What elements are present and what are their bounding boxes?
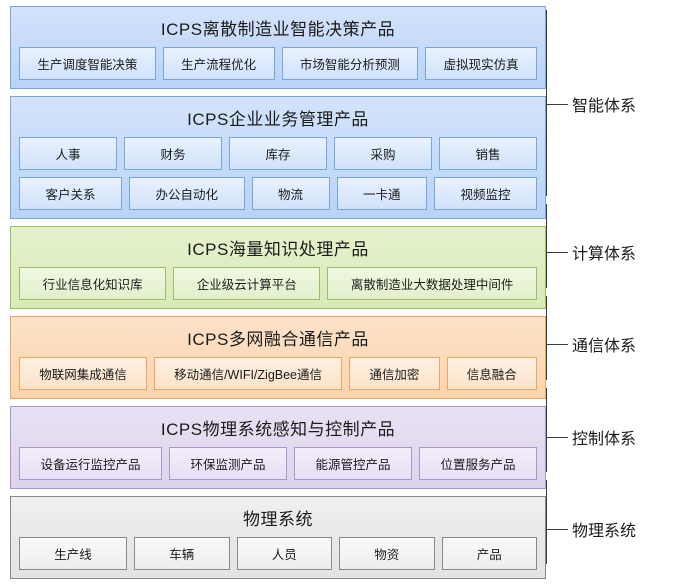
annotation-label: 控制体系 <box>568 425 636 449</box>
chip-row: 设备运行监控产品 环保监测产品 能源管控产品 位置服务产品 <box>19 447 537 480</box>
chip[interactable]: 物流 <box>252 177 330 210</box>
annotation-control-system: 控制体系 <box>546 425 636 449</box>
chip[interactable]: 生产流程优化 <box>163 47 275 80</box>
layer-icps-enterprise-business-management: ICPS企业业务管理产品 人事 财务 库存 采购 销售 客户关系 办公自动化 物… <box>10 96 546 219</box>
chip[interactable]: 移动通信/WIFI/ZigBee通信 <box>154 357 342 390</box>
chip[interactable]: 视频监控 <box>434 177 537 210</box>
chip[interactable]: 一卡通 <box>337 177 428 210</box>
annotation-physical-system: 物理系统 <box>546 517 636 541</box>
layer-title: ICPS海量知识处理产品 <box>19 233 537 267</box>
annotation-stem <box>546 252 568 253</box>
chip[interactable]: 人员 <box>237 537 333 570</box>
chip[interactable]: 位置服务产品 <box>419 447 537 480</box>
annotation-label: 计算体系 <box>568 240 636 264</box>
layer-title: ICPS企业业务管理产品 <box>19 103 537 137</box>
chip[interactable]: 能源管控产品 <box>294 447 412 480</box>
layer-stack: ICPS离散制造业智能决策产品 生产调度智能决策 生产流程优化 市场智能分析预测… <box>10 6 546 586</box>
layer-title: ICPS离散制造业智能决策产品 <box>19 13 537 47</box>
chip-row: 人事 财务 库存 采购 销售 <box>19 137 537 170</box>
annotation-label: 通信体系 <box>568 332 636 356</box>
chip[interactable]: 办公自动化 <box>129 177 245 210</box>
annotation-group: 智能体系 计算体系 通信体系 控制体系 物理系统 <box>546 6 674 566</box>
annotation-label: 物理系统 <box>568 517 636 541</box>
chip[interactable]: 环保监测产品 <box>169 447 287 480</box>
chip[interactable]: 产品 <box>442 537 538 570</box>
chip-row: 物联网集成通信 移动通信/WIFI/ZigBee通信 通信加密 信息融合 <box>19 357 537 390</box>
chip[interactable]: 车辆 <box>134 537 230 570</box>
chip[interactable]: 采购 <box>334 137 432 170</box>
annotation-stem <box>546 344 568 345</box>
chip[interactable]: 物资 <box>339 537 435 570</box>
chip[interactable]: 物联网集成通信 <box>19 357 147 390</box>
annotation-communication-system: 通信体系 <box>546 332 636 356</box>
annotation-label: 智能体系 <box>568 92 636 116</box>
annotation-stem <box>546 104 568 105</box>
diagram-canvas: ICPS离散制造业智能决策产品 生产调度智能决策 生产流程优化 市场智能分析预测… <box>0 0 674 574</box>
layer-title: ICPS物理系统感知与控制产品 <box>19 413 537 447</box>
annotation-stem <box>546 437 568 438</box>
layer-physical-system: 物理系统 生产线 车辆 人员 物资 产品 <box>10 496 546 579</box>
chip[interactable]: 客户关系 <box>19 177 122 210</box>
chip[interactable]: 离散制造业大数据处理中间件 <box>327 267 537 300</box>
chip[interactable]: 信息融合 <box>447 357 537 390</box>
chip[interactable]: 行业信息化知识库 <box>19 267 166 300</box>
chip[interactable]: 库存 <box>229 137 327 170</box>
chip-row: 生产线 车辆 人员 物资 产品 <box>19 537 537 570</box>
chip[interactable]: 生产线 <box>19 537 127 570</box>
chip[interactable]: 市场智能分析预测 <box>282 47 419 80</box>
chip-row: 客户关系 办公自动化 物流 一卡通 视频监控 <box>19 177 537 210</box>
layer-title: ICPS多网融合通信产品 <box>19 323 537 357</box>
chip[interactable]: 销售 <box>439 137 537 170</box>
chip-row: 行业信息化知识库 企业级云计算平台 离散制造业大数据处理中间件 <box>19 267 537 300</box>
chip[interactable]: 财务 <box>124 137 222 170</box>
layer-icps-multi-network-convergence-communication: ICPS多网融合通信产品 物联网集成通信 移动通信/WIFI/ZigBee通信 … <box>10 316 546 399</box>
chip[interactable]: 设备运行监控产品 <box>19 447 162 480</box>
chip-row: 生产调度智能决策 生产流程优化 市场智能分析预测 虚拟现实仿真 <box>19 47 537 80</box>
chip[interactable]: 企业级云计算平台 <box>173 267 320 300</box>
chip[interactable]: 通信加密 <box>349 357 439 390</box>
layer-icps-discrete-manufacturing-intelligent-decision: ICPS离散制造业智能决策产品 生产调度智能决策 生产流程优化 市场智能分析预测… <box>10 6 546 89</box>
annotation-intelligent-system: 智能体系 <box>546 92 636 116</box>
layer-title: 物理系统 <box>19 503 537 537</box>
layer-icps-physical-system-sensing-control: ICPS物理系统感知与控制产品 设备运行监控产品 环保监测产品 能源管控产品 位… <box>10 406 546 489</box>
chip[interactable]: 人事 <box>19 137 117 170</box>
annotation-stem <box>546 529 568 530</box>
chip[interactable]: 生产调度智能决策 <box>19 47 156 80</box>
chip[interactable]: 虚拟现实仿真 <box>425 47 537 80</box>
layer-icps-massive-knowledge-processing: ICPS海量知识处理产品 行业信息化知识库 企业级云计算平台 离散制造业大数据处… <box>10 226 546 309</box>
annotation-computing-system: 计算体系 <box>546 240 636 264</box>
